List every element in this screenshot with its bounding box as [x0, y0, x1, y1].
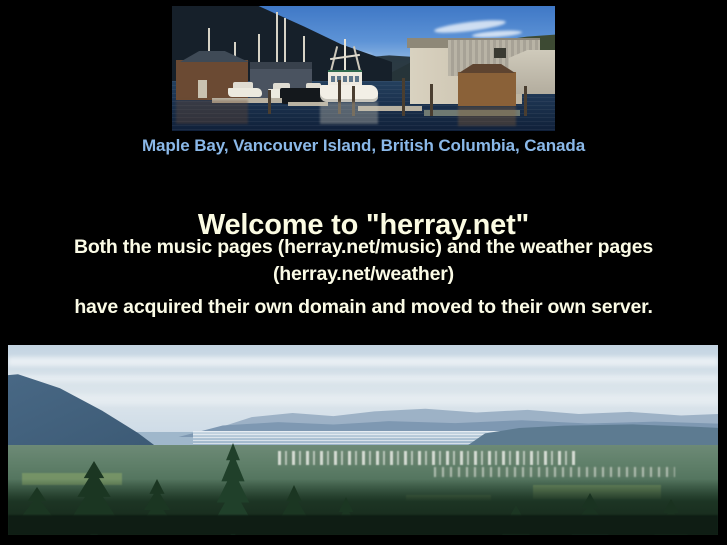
dock-piling — [268, 90, 271, 114]
fishing-boat — [320, 68, 378, 102]
town-buildings-far — [434, 467, 675, 477]
announcement-line-1: Both the music pages (herray.net/music) … — [74, 236, 653, 258]
announcement-paragraph-2: have acquired their own domain and moved… — [0, 296, 727, 319]
yacht — [228, 80, 262, 97]
foreground-scrub — [8, 515, 718, 535]
cloud-band — [8, 375, 718, 382]
town-buildings — [278, 451, 576, 465]
page-root: Maple Bay, Vancouver Island, British Col… — [0, 0, 727, 545]
boat-hull — [320, 85, 378, 102]
boathouse-right — [458, 72, 516, 106]
water-reflection — [320, 102, 378, 124]
window — [494, 48, 506, 58]
water-reflection — [176, 100, 248, 124]
cloud-band — [8, 357, 718, 366]
dock-piling — [524, 86, 527, 116]
dock-piling — [430, 84, 433, 116]
announcement-line-2: (herray.net/weather) — [273, 263, 454, 285]
dock-piling — [402, 78, 405, 116]
announcement-paragraph: Both the music pages (herray.net/music) … — [0, 234, 727, 288]
yacht-hull — [228, 88, 262, 97]
water-reflection — [458, 106, 516, 126]
cloud-band — [8, 395, 718, 405]
door — [198, 80, 207, 98]
location-subtitle: Maple Bay, Vancouver Island, British Col… — [0, 136, 727, 156]
valley-photo — [8, 345, 718, 535]
roof — [250, 62, 312, 69]
harbour-photo — [172, 6, 555, 131]
